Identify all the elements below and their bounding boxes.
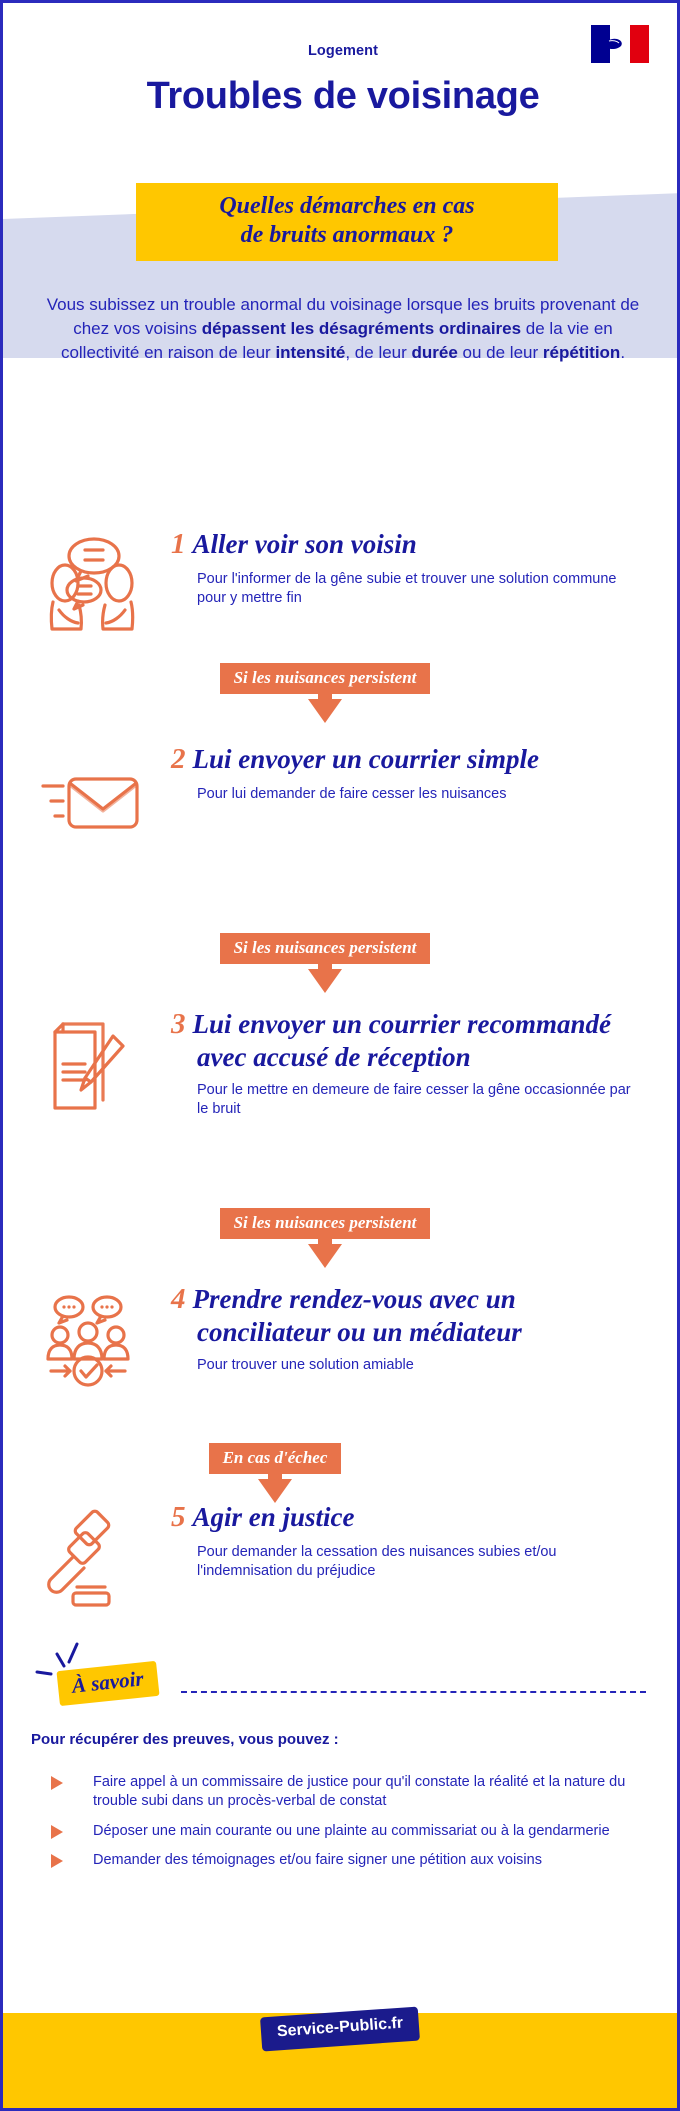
gavel-icon [37, 1507, 145, 1615]
step-2-title: Lui envoyer un courrier simple [193, 744, 540, 774]
question-banner: Quelles démarches en cas de bruits anorm… [136, 183, 558, 261]
step-4-title: Prendre rendez-vous avec un conciliateur… [193, 1284, 522, 1347]
intro-bold-2: intensité [275, 343, 345, 362]
step-5-title-row: 5Agir en justice [171, 1501, 641, 1535]
step-5-body: 5Agir en justice Pour demander la cessat… [171, 1501, 641, 1581]
step-2-number: 2 [171, 743, 193, 775]
step-5-desc: Pour demander la cessation des nuisances… [197, 1543, 641, 1582]
proof-text: Déposer une main courante ou une plainte… [93, 1823, 610, 1839]
step-3-desc: Pour le mettre en demeure de faire cesse… [197, 1081, 641, 1120]
proof-text: Faire appel à un commissaire de justice … [93, 1774, 625, 1809]
asavoir-dashed-divider [181, 1691, 646, 1693]
connector-2-label: Si les nuisances persistent [220, 933, 431, 964]
intro-part-5: . [620, 343, 625, 362]
intro-part-3: , de leur [345, 343, 411, 362]
asavoir-section: À savoir [3, 1648, 680, 1718]
page-title: Troubles de voisinage [3, 75, 680, 118]
step-2-title-row: 2Lui envoyer un courrier simple [171, 743, 641, 777]
step-5-title: Agir en justice [193, 1502, 355, 1532]
connector-2-arrow-icon [308, 969, 342, 993]
triangle-bullet-icon [51, 1854, 63, 1868]
step-4-desc: Pour trouver une solution amiable [197, 1356, 641, 1375]
proofs-list: Faire appel à un commissaire de justice … [31, 1773, 651, 1880]
envelope-sending-icon [37, 753, 145, 861]
connector-1-label: Si les nuisances persistent [220, 663, 431, 694]
step-3-body: 3Lui envoyer un courrier recommandé avec… [171, 1008, 641, 1120]
step-3-title: Lui envoyer un courrier recommandé avec … [193, 1009, 612, 1072]
step-2-desc: Pour lui demander de faire cesser les nu… [197, 785, 641, 804]
triangle-bullet-icon [51, 1825, 63, 1839]
connector-1: Si les nuisances persistent [3, 663, 680, 723]
connector-3-arrow-icon [308, 1244, 342, 1268]
list-item: Déposer une main courante ou une plainte… [31, 1822, 651, 1841]
connector-4: En cas d'échec [3, 1443, 680, 1503]
intro-bold-1: dépassent les désagréments ordinaires [202, 319, 521, 338]
intro-bold-3: durée [412, 343, 458, 362]
step-3-number: 3 [171, 1008, 193, 1040]
intro-paragraph: Vous subissez un trouble anormal du vois… [43, 293, 643, 365]
step-4-body: 4Prendre rendez-vous avec un conciliateu… [171, 1283, 641, 1375]
list-item: Demander des témoignages et/ou faire sig… [31, 1851, 651, 1870]
step-2-body: 2Lui envoyer un courrier simple Pour lui… [171, 743, 641, 804]
question-line-2: de bruits anormaux ? [140, 221, 554, 250]
page-eyebrow: Logement [3, 43, 680, 59]
list-item: Faire appel à un commissaire de justice … [31, 1773, 651, 1812]
step-4-title-row: 4Prendre rendez-vous avec un conciliateu… [171, 1283, 641, 1348]
connector-1-arrow-icon [308, 699, 342, 723]
step-1-desc: Pour l'informer de la gêne subie et trou… [197, 570, 641, 609]
step-1-title-row: 1Aller voir son voisin [171, 528, 641, 562]
connector-4-label: En cas d'échec [209, 1443, 342, 1474]
infographic-page: Logement Troubles de voisinage Quelles d… [0, 0, 680, 2111]
intro-bold-4: répétition [543, 343, 620, 362]
connector-4-arrow-icon [258, 1479, 292, 1503]
step-1-title: Aller voir son voisin [193, 529, 417, 559]
triangle-bullet-icon [51, 1776, 63, 1790]
group-mediation-check-icon [37, 1287, 145, 1395]
two-people-speech-bubbles-icon [37, 528, 145, 636]
step-3-title-row: 3Lui envoyer un courrier recommandé avec… [171, 1008, 641, 1073]
step-1-body: 1Aller voir son voisin Pour l'informer d… [171, 528, 641, 608]
step-1-number: 1 [171, 528, 193, 560]
question-line-1: Quelles démarches en cas [140, 192, 554, 221]
document-pen-icon [37, 1012, 145, 1120]
connector-3-label: Si les nuisances persistent [220, 1208, 431, 1239]
connector-3: Si les nuisances persistent [3, 1208, 680, 1268]
proofs-title: Pour récupérer des preuves, vous pouvez … [31, 1731, 631, 1748]
step-5-number: 5 [171, 1501, 193, 1533]
step-4-number: 4 [171, 1283, 193, 1315]
proof-text: Demander des témoignages et/ou faire sig… [93, 1852, 542, 1868]
intro-part-4: ou de leur [458, 343, 543, 362]
connector-2: Si les nuisances persistent [3, 933, 680, 993]
